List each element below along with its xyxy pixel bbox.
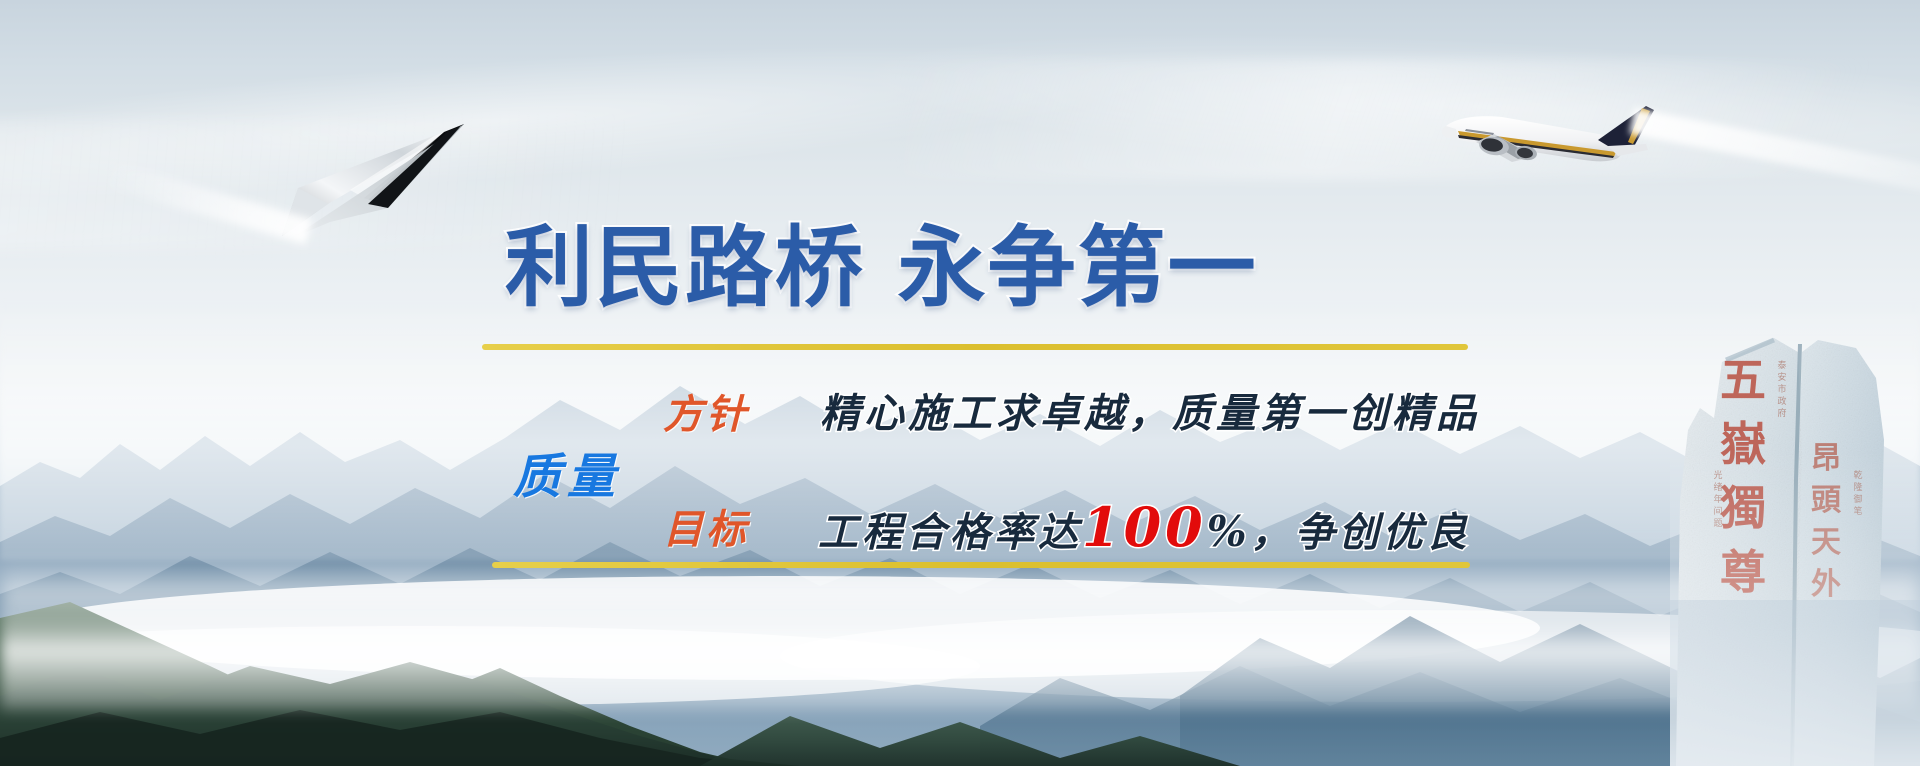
goal-slogan-text: 工程合格率达100%，争创优良	[818, 495, 1471, 559]
divider-bottom	[492, 562, 1470, 568]
quality-heading: 质量	[513, 437, 621, 507]
hero-banner: 五 嶽 獨 尊 昂 頭 天 外 泰安市 政府 光绪年 间题 乾隆御 笔	[0, 0, 1920, 766]
goal-text-after: ，争创优良	[1251, 509, 1471, 556]
goal-percent-sign: %	[1207, 507, 1251, 556]
goal-text-before: 工程合格率达	[818, 509, 1082, 556]
goal-tag-label: 目标	[663, 497, 749, 555]
divider-top	[482, 344, 1468, 350]
goal-highlight-value: 100	[1082, 495, 1207, 559]
policy-tag-label: 方针	[663, 382, 749, 440]
policy-slogan-text: 精心施工求卓越，质量第一创精品	[820, 381, 1480, 439]
page-title: 利民路桥 永争第一	[505, 197, 1258, 324]
banner-content: 利民路桥 永争第一 方针 精心施工求卓越，质量第一创精品 质量 目标 工程合格率…	[0, 0, 1920, 766]
